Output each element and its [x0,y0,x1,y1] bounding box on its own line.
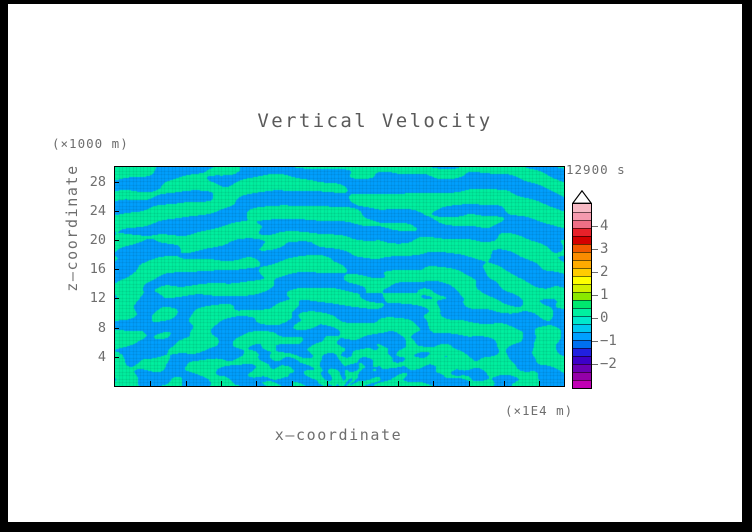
colorbar-band [573,204,591,212]
colorbar-arrow-cap-icon [572,190,592,204]
colorbar-tick-mark [592,318,598,319]
colorbar-band [573,212,591,220]
y-tick-label: 28 [80,174,106,190]
colorbar-band [573,300,591,308]
y-tick-label: 4 [80,349,106,365]
colorbar: 43210−1−2 [572,190,632,390]
colorbar-tick-label: 3 [600,241,608,257]
contour-field-canvas [115,167,564,386]
y-tick-label: 8 [80,320,106,336]
colorbar-band [573,372,591,380]
y-tick-mark [114,328,119,329]
y-tick-label: 20 [80,232,106,248]
x-tick-mark [256,381,257,386]
colorbar-tick-label: 0 [600,310,608,326]
colorbar-tick-mark [592,226,598,227]
y-tick-mark [114,269,119,270]
colorbar-band [573,284,591,292]
y-tick-label: 16 [80,261,106,277]
figure-page: Vertical Velocity (×1000 m) 12900 s 1234… [8,4,742,522]
x-tick-mark [362,381,363,386]
figure-black-border: Vertical Velocity (×1000 m) 12900 s 1234… [0,0,752,532]
y-tick-mark [114,357,119,358]
x-tick-mark [398,381,399,386]
colorbar-band [573,308,591,316]
colorbar-tick-label: −2 [600,356,617,372]
colorbar-band [573,268,591,276]
x-tick-mark [327,381,328,386]
y-tick-mark [114,240,119,241]
colorbar-tick-mark [592,341,598,342]
colorbar-tick-label: 2 [600,264,608,280]
y-tick-mark [114,182,119,183]
colorbar-band [573,364,591,372]
colorbar-band [573,380,591,388]
colorbar-tick-label: 1 [600,287,608,303]
timestamp-label: 12900 s [566,162,626,177]
colorbar-band [573,228,591,236]
x-tick-mark [469,381,470,386]
plot-frame [114,166,565,387]
x-tick-mark [221,381,222,386]
colorbar-band [573,324,591,332]
y-axis-label: z—coordinate [63,158,81,298]
y-tick-label: 24 [80,203,106,219]
colorbar-band [573,236,591,244]
colorbar-band [573,276,591,284]
y-tick-mark [114,211,119,212]
x-tick-mark [539,381,540,386]
colorbar-band [573,260,591,268]
colorbar-tick-label: 4 [600,218,608,234]
y-tick-mark [114,298,119,299]
colorbar-tick-mark [592,272,598,273]
colorbar-tick-mark [592,364,598,365]
colorbar-band [573,348,591,356]
colorbar-band [573,252,591,260]
colorbar-tick-mark [592,249,598,250]
colorbar-band [573,220,591,228]
colorbar-band [573,340,591,348]
x-axis-label: x—coordinate [114,426,563,444]
colorbar-tick-label: −1 [600,333,617,349]
y-tick-label: 12 [80,290,106,306]
colorbar-band [573,292,591,300]
colorbar-band [573,356,591,364]
x-axis-unit-label: (×1E4 m) [505,403,573,418]
y-axis-unit-label: (×1000 m) [52,136,129,151]
x-tick-mark [150,381,151,386]
x-tick-mark [504,381,505,386]
colorbar-band [573,332,591,340]
x-tick-mark [433,381,434,386]
x-tick-mark [292,381,293,386]
colorbar-band [573,244,591,252]
plot-area: 123456789101112 481216202428 [114,166,565,387]
colorbar-band [573,316,591,324]
colorbar-bands [572,203,592,389]
x-tick-mark [186,381,187,386]
colorbar-tick-mark [592,295,598,296]
chart-title: Vertical Velocity [8,110,742,132]
